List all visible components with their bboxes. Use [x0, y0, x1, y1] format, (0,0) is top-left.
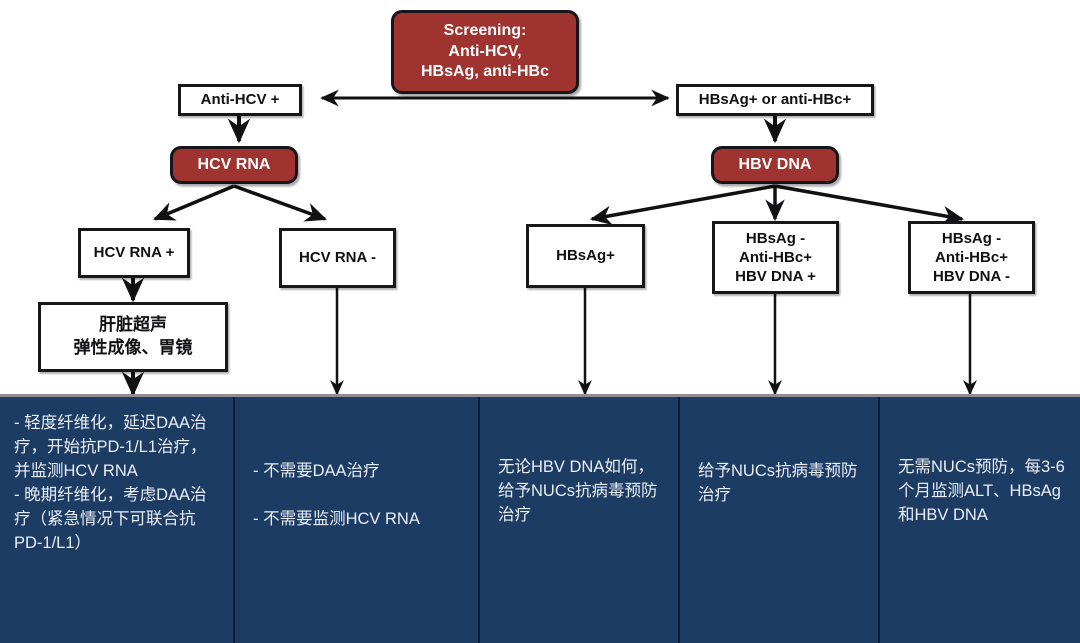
wire-hcvrna-to-negative	[234, 186, 325, 219]
wire-hbvdna-to-hbsag-positive	[592, 186, 775, 219]
recommendation-panel-hbv-dna-positive: 给予NUCs抗病毒预防治疗	[680, 397, 880, 643]
recommendation-panel-hcv-rna-negative: - 不需要DAA治疗 - 不需要监测HCV RNA	[235, 397, 480, 643]
recommendation-strip: - 轻度纤维化，延迟DAA治疗，开始抗PD-1/L1治疗，并监测HCV RNA …	[0, 394, 1080, 643]
node-hbsag-positive[interactable]: HBsAg+	[526, 224, 645, 288]
node-hcv-rna-test[interactable]: HCV RNA	[170, 146, 298, 184]
node-liver-workup[interactable]: 肝脏超声 弹性成像、胃镜	[38, 302, 228, 372]
recommendation-panel-hcv-rna-positive: - 轻度纤维化，延迟DAA治疗，开始抗PD-1/L1治疗，并监测HCV RNA …	[0, 397, 235, 643]
wire-hcvrna-to-positive	[155, 186, 234, 219]
node-hbsag-or-antihbc-positive[interactable]: HBsAg+ or anti-HBc+	[676, 84, 874, 116]
flowchart-canvas: Screening: Anti-HCV, HBsAg, anti-HBc Ant…	[0, 0, 1080, 643]
recommendation-panel-hbsag-positive: 无论HBV DNA如何，给予NUCs抗病毒预防治疗	[480, 397, 680, 643]
node-hcv-rna-negative[interactable]: HCV RNA -	[279, 228, 396, 288]
node-hbv-dna-test[interactable]: HBV DNA	[711, 146, 839, 184]
wire-hbvdna-to-dna-negative	[775, 186, 962, 219]
node-screening[interactable]: Screening: Anti-HCV, HBsAg, anti-HBc	[391, 10, 579, 94]
recommendation-panel-hbv-dna-negative: 无需NUCs预防，每3-6个月监测ALT、HBsAg和HBV DNA	[880, 397, 1080, 643]
node-anti-hcv-positive[interactable]: Anti-HCV +	[178, 84, 302, 116]
node-hcv-rna-positive[interactable]: HCV RNA +	[78, 228, 190, 278]
node-hbsag-negative-dna-negative[interactable]: HBsAg - Anti-HBc+ HBV DNA -	[908, 221, 1035, 294]
node-hbsag-negative-dna-positive[interactable]: HBsAg - Anti-HBc+ HBV DNA +	[712, 221, 839, 294]
